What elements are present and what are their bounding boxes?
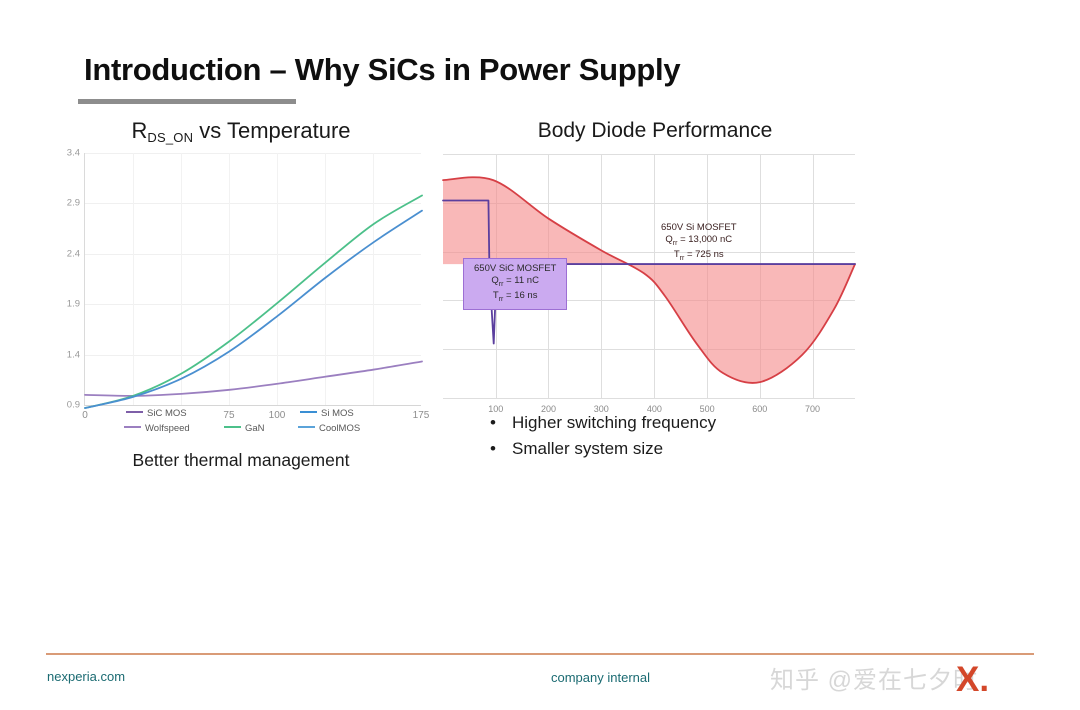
nexperia-logo-mark: X. — [956, 662, 989, 697]
legend-swatch-coolmos — [298, 426, 315, 428]
annotation-si-line2: Qrr = 13,000 nC — [661, 234, 737, 249]
footer-divider — [46, 653, 1034, 655]
legend-swatch-gan — [224, 426, 241, 428]
y-axis-tick: 2.4 — [67, 248, 80, 259]
left-chart-series-svg — [85, 153, 422, 406]
legend-label-wolfspeed: Wolfspeed — [145, 423, 190, 434]
legend-swatch-wolfspeed — [124, 426, 141, 428]
legend-swatch-si-mos — [300, 411, 317, 413]
trr-value: = 725 ns — [684, 249, 723, 260]
left-chart-legend: SiC MOS Si MOS Wolfspeed GaN CoolMOS — [84, 406, 421, 446]
bullet-glyph: • — [490, 436, 512, 462]
qrr-symbol: Q — [665, 234, 672, 245]
y-axis-tick: 3.4 — [67, 148, 80, 159]
legend-item-coolmos: CoolMOS — [298, 423, 360, 434]
legend-label-si-mos: Si MOS — [321, 408, 354, 419]
y-axis-tick: 2.9 — [67, 198, 80, 209]
left-plot-area: 3.4 2.9 2.4 1.9 1.4 0.9 0 75 100 175 — [84, 153, 421, 406]
y-axis-tick: 1.9 — [67, 299, 80, 310]
right-chart-bullet-list: •Higher switching frequency •Smaller sys… — [490, 410, 716, 463]
legend-swatch-sic-mos — [126, 411, 143, 413]
left-chart-title: RDS_ON vs Temperature — [46, 118, 436, 144]
legend-label-coolmos: CoolMOS — [319, 423, 360, 434]
annotation-si-mosfet: 650V Si MOSFET Qrr = 13,000 nC Trr = 725… — [661, 222, 737, 263]
x-axis-tick: 700 — [805, 404, 820, 414]
list-item: •Higher switching frequency — [490, 410, 716, 436]
watermark-text: 知乎 @爱在七夕时 — [770, 660, 978, 695]
bullet-text: Smaller system size — [512, 439, 663, 458]
bullet-glyph: • — [490, 410, 512, 436]
annotation-sic-line3: Trr = 16 ns — [474, 290, 556, 305]
left-chart-title-rest: vs Temperature — [193, 118, 350, 143]
footer-website-link[interactable]: nexperia.com — [47, 669, 125, 684]
y-axis-tick: 0.9 — [67, 400, 80, 411]
gridline-h — [443, 398, 855, 399]
chart-rds-on-vs-temperature: RDS_ON vs Temperature 3.4 2.9 2.4 1.9 1.… — [46, 118, 436, 468]
annotation-si-line1: 650V Si MOSFET — [661, 222, 737, 234]
x-axis-tick: 600 — [752, 404, 767, 414]
annotation-sic-line2: Qrr = 11 nC — [474, 275, 556, 290]
trr-value: = 16 ns — [503, 290, 537, 301]
qrr-symbol: Q — [491, 275, 498, 286]
left-chart-caption: Better thermal management — [46, 450, 436, 471]
legend-item-sic-mos: SiC MOS — [126, 408, 187, 419]
left-chart-title-subscript: DS_ON — [147, 130, 193, 145]
legend-item-gan: GaN — [224, 423, 265, 434]
y-axis-tick: 1.4 — [67, 349, 80, 360]
legend-label-gan: GaN — [245, 423, 265, 434]
right-plot-area: 100 200 300 400 500 600 700 650V SiC MOS… — [443, 154, 855, 398]
qrr-value: = 13,000 nC — [677, 234, 732, 245]
qrr-value: = 11 nC — [503, 275, 538, 286]
legend-label-sic-mos: SiC MOS — [147, 408, 187, 419]
left-chart-title-main: R — [131, 118, 147, 143]
chart-body-diode-performance: Body Diode Performance 100 200 300 400 5… — [440, 118, 870, 468]
bullet-text: Higher switching frequency — [512, 413, 716, 432]
annotation-sic-line1: 650V SiC MOSFET — [474, 263, 556, 275]
legend-item-wolfspeed: Wolfspeed — [124, 423, 190, 434]
annotation-si-line3: Trr = 725 ns — [661, 249, 737, 264]
list-item: •Smaller system size — [490, 436, 716, 462]
right-chart-title: Body Diode Performance — [440, 119, 870, 143]
annotation-sic-mosfet: 650V SiC MOSFET Qrr = 11 nC Trr = 16 ns — [463, 258, 567, 310]
footer-confidentiality-label: company internal — [551, 670, 650, 685]
title-underline-rule — [78, 99, 296, 104]
legend-item-si-mos: Si MOS — [300, 408, 354, 419]
page-title: Introduction – Why SiCs in Power Supply — [84, 52, 680, 88]
